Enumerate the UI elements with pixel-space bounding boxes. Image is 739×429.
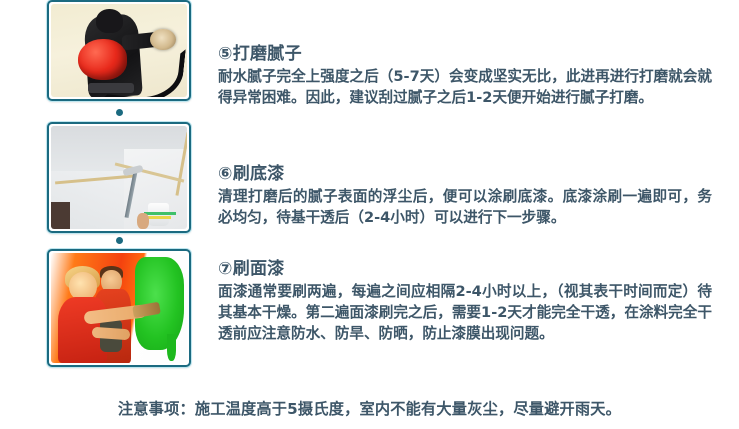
page-root: ⑤打磨腻子 耐水腻子完全上强度之后（5-7天）会变成坚实无比，此进再进行打磨就会… xyxy=(0,0,739,429)
step-title-5: ⑤打磨腻子 xyxy=(218,44,714,65)
step-image-topcoat xyxy=(47,249,191,367)
yellow-tape-shape xyxy=(146,216,170,219)
step-body-7: 面漆通常要刷两遍，每遍之间应相隔2-4小时以上，（视其表干时间而定）待其基本干燥… xyxy=(218,281,712,344)
photo-topcoat-illustration xyxy=(51,253,187,363)
photo-primer-illustration xyxy=(51,126,187,229)
step-block-5: ⑤打磨腻子 耐水腻子完全上强度之后（5-7天）会变成坚实无比，此进再进行打磨就会… xyxy=(218,44,714,108)
lower-arm-shape xyxy=(91,326,130,340)
step-image-primer xyxy=(47,122,191,233)
green-tape-shape xyxy=(144,212,177,215)
step-body-6: 清理打磨后的腻子表面的浮尘后，便可以涂刷底漆。底漆涂刷一遍即可，务必均匀，待基干… xyxy=(218,186,712,228)
dark-corner-shape xyxy=(51,202,70,229)
step-title-6: ⑥刷底漆 xyxy=(218,164,714,185)
step-block-7: ⑦刷面漆 面漆通常要刷两遍，每遍之间应相隔2-4小时以上，（视其表干时间而定）待… xyxy=(218,259,714,344)
connector-dot-1 xyxy=(116,109,123,116)
worker-belt-shape xyxy=(88,83,134,93)
photo-column xyxy=(47,0,191,372)
green-paint-drip-shape xyxy=(167,334,177,360)
worker-hand-shape xyxy=(137,213,149,229)
worker-head-shape xyxy=(96,9,123,33)
paint-bucket-shape xyxy=(148,203,170,226)
step-title-7: ⑦刷面漆 xyxy=(218,259,714,280)
connector-dot-2 xyxy=(116,237,123,244)
photo-sanding-illustration xyxy=(51,4,187,97)
step-block-6: ⑥刷底漆 清理打磨后的腻子表面的浮尘后，便可以涂刷底漆。底漆涂刷一遍即可，务必均… xyxy=(218,164,714,228)
footer-note: 注意事项：施工温度高于5摄氏度，室内不能有大量灰尘，尽量避开雨天。 xyxy=(0,398,739,420)
step-image-sanding xyxy=(47,0,191,101)
step-body-5: 耐水腻子完全上强度之后（5-7天）会变成坚实无比，此进再进行打磨就会就得异常困难… xyxy=(218,66,712,108)
